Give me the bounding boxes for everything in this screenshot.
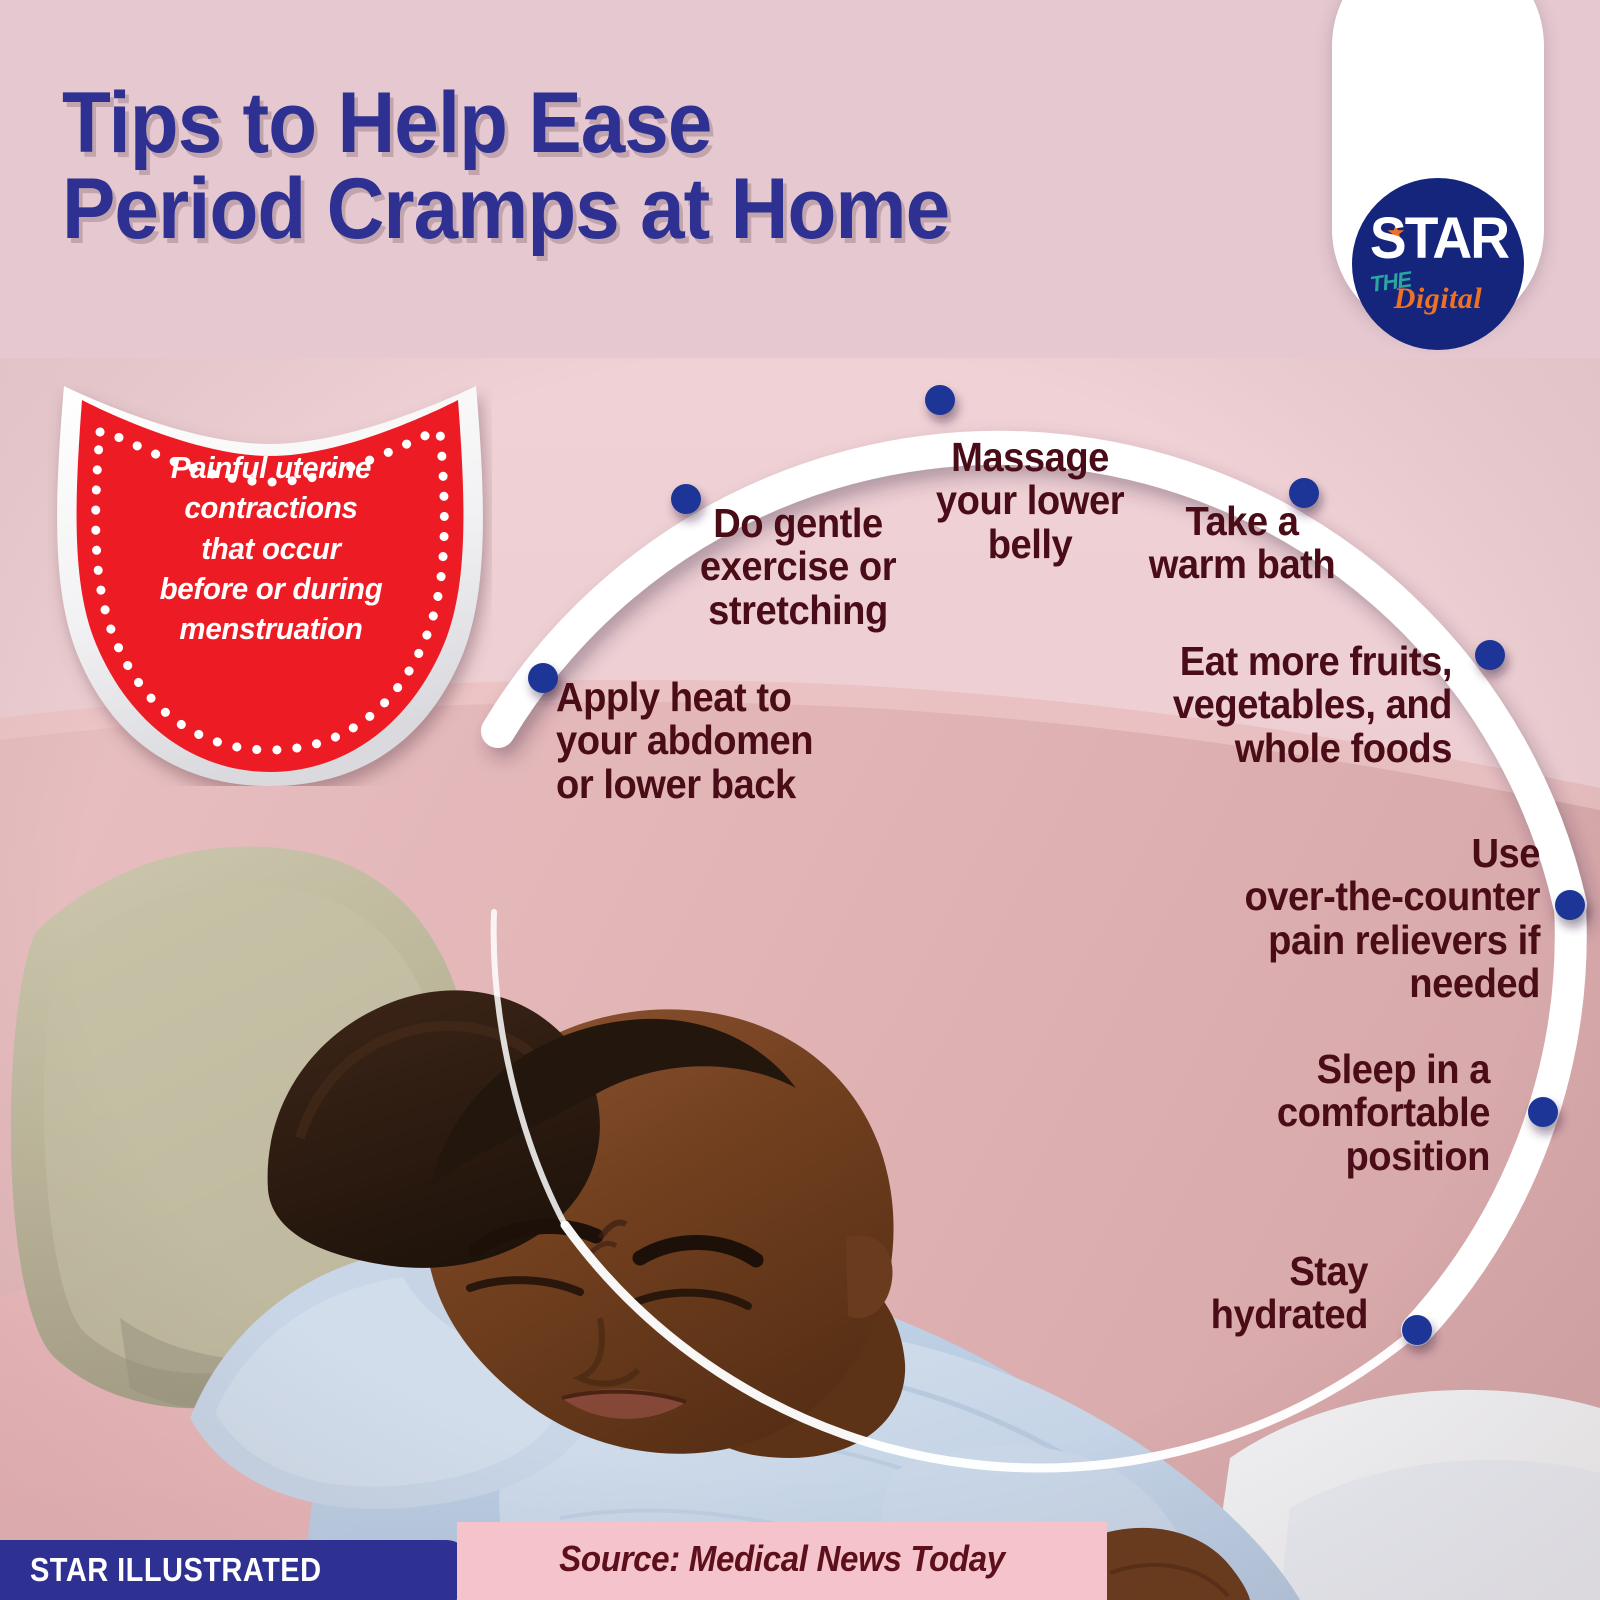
- star-illustrated-badge: STAR ILLUSTRATED: [0, 1540, 472, 1600]
- page-title: Tips to Help Ease Period Cramps at Home: [62, 80, 1206, 252]
- tip-apply-heat: Apply heat to your abdomen or lower back: [556, 676, 863, 806]
- logo-digital-label: Digital: [1352, 282, 1524, 316]
- tip-stay-hydrated: Stay hydrated: [1137, 1250, 1368, 1337]
- star-digital-logo[interactable]: THE ★ STAR Digital: [1332, 0, 1544, 335]
- tip-warm-bath: Take a warm bath: [1130, 500, 1353, 587]
- infographic-root: Tips to Help Ease Period Cramps at Home …: [0, 0, 1600, 1600]
- source-bar: Source: Medical News Today: [457, 1522, 1107, 1600]
- star-illustrated-label: STAR ILLUSTRATED: [30, 1551, 322, 1589]
- logo-circle: THE ★ STAR Digital: [1352, 178, 1524, 350]
- tip-eat-whole-foods: Eat more fruits, vegetables, and whole f…: [1125, 640, 1452, 770]
- tip-pain-relievers: Use over-the-counter pain relievers if n…: [1177, 832, 1540, 1006]
- logo-star-label: STAR: [1370, 210, 1509, 268]
- tip-massage-belly: Massage your lower belly: [918, 436, 1141, 566]
- definition-badge: Painful uterine contractions that occur …: [48, 386, 492, 786]
- source-label: Source: Medical News Today: [483, 1538, 1081, 1580]
- badge-text: Painful uterine contractions that occur …: [114, 448, 428, 649]
- tip-sleep-position: Sleep in a comfortable position: [1202, 1048, 1490, 1178]
- tip-gentle-exercise: Do gentle exercise or stretching: [686, 502, 909, 632]
